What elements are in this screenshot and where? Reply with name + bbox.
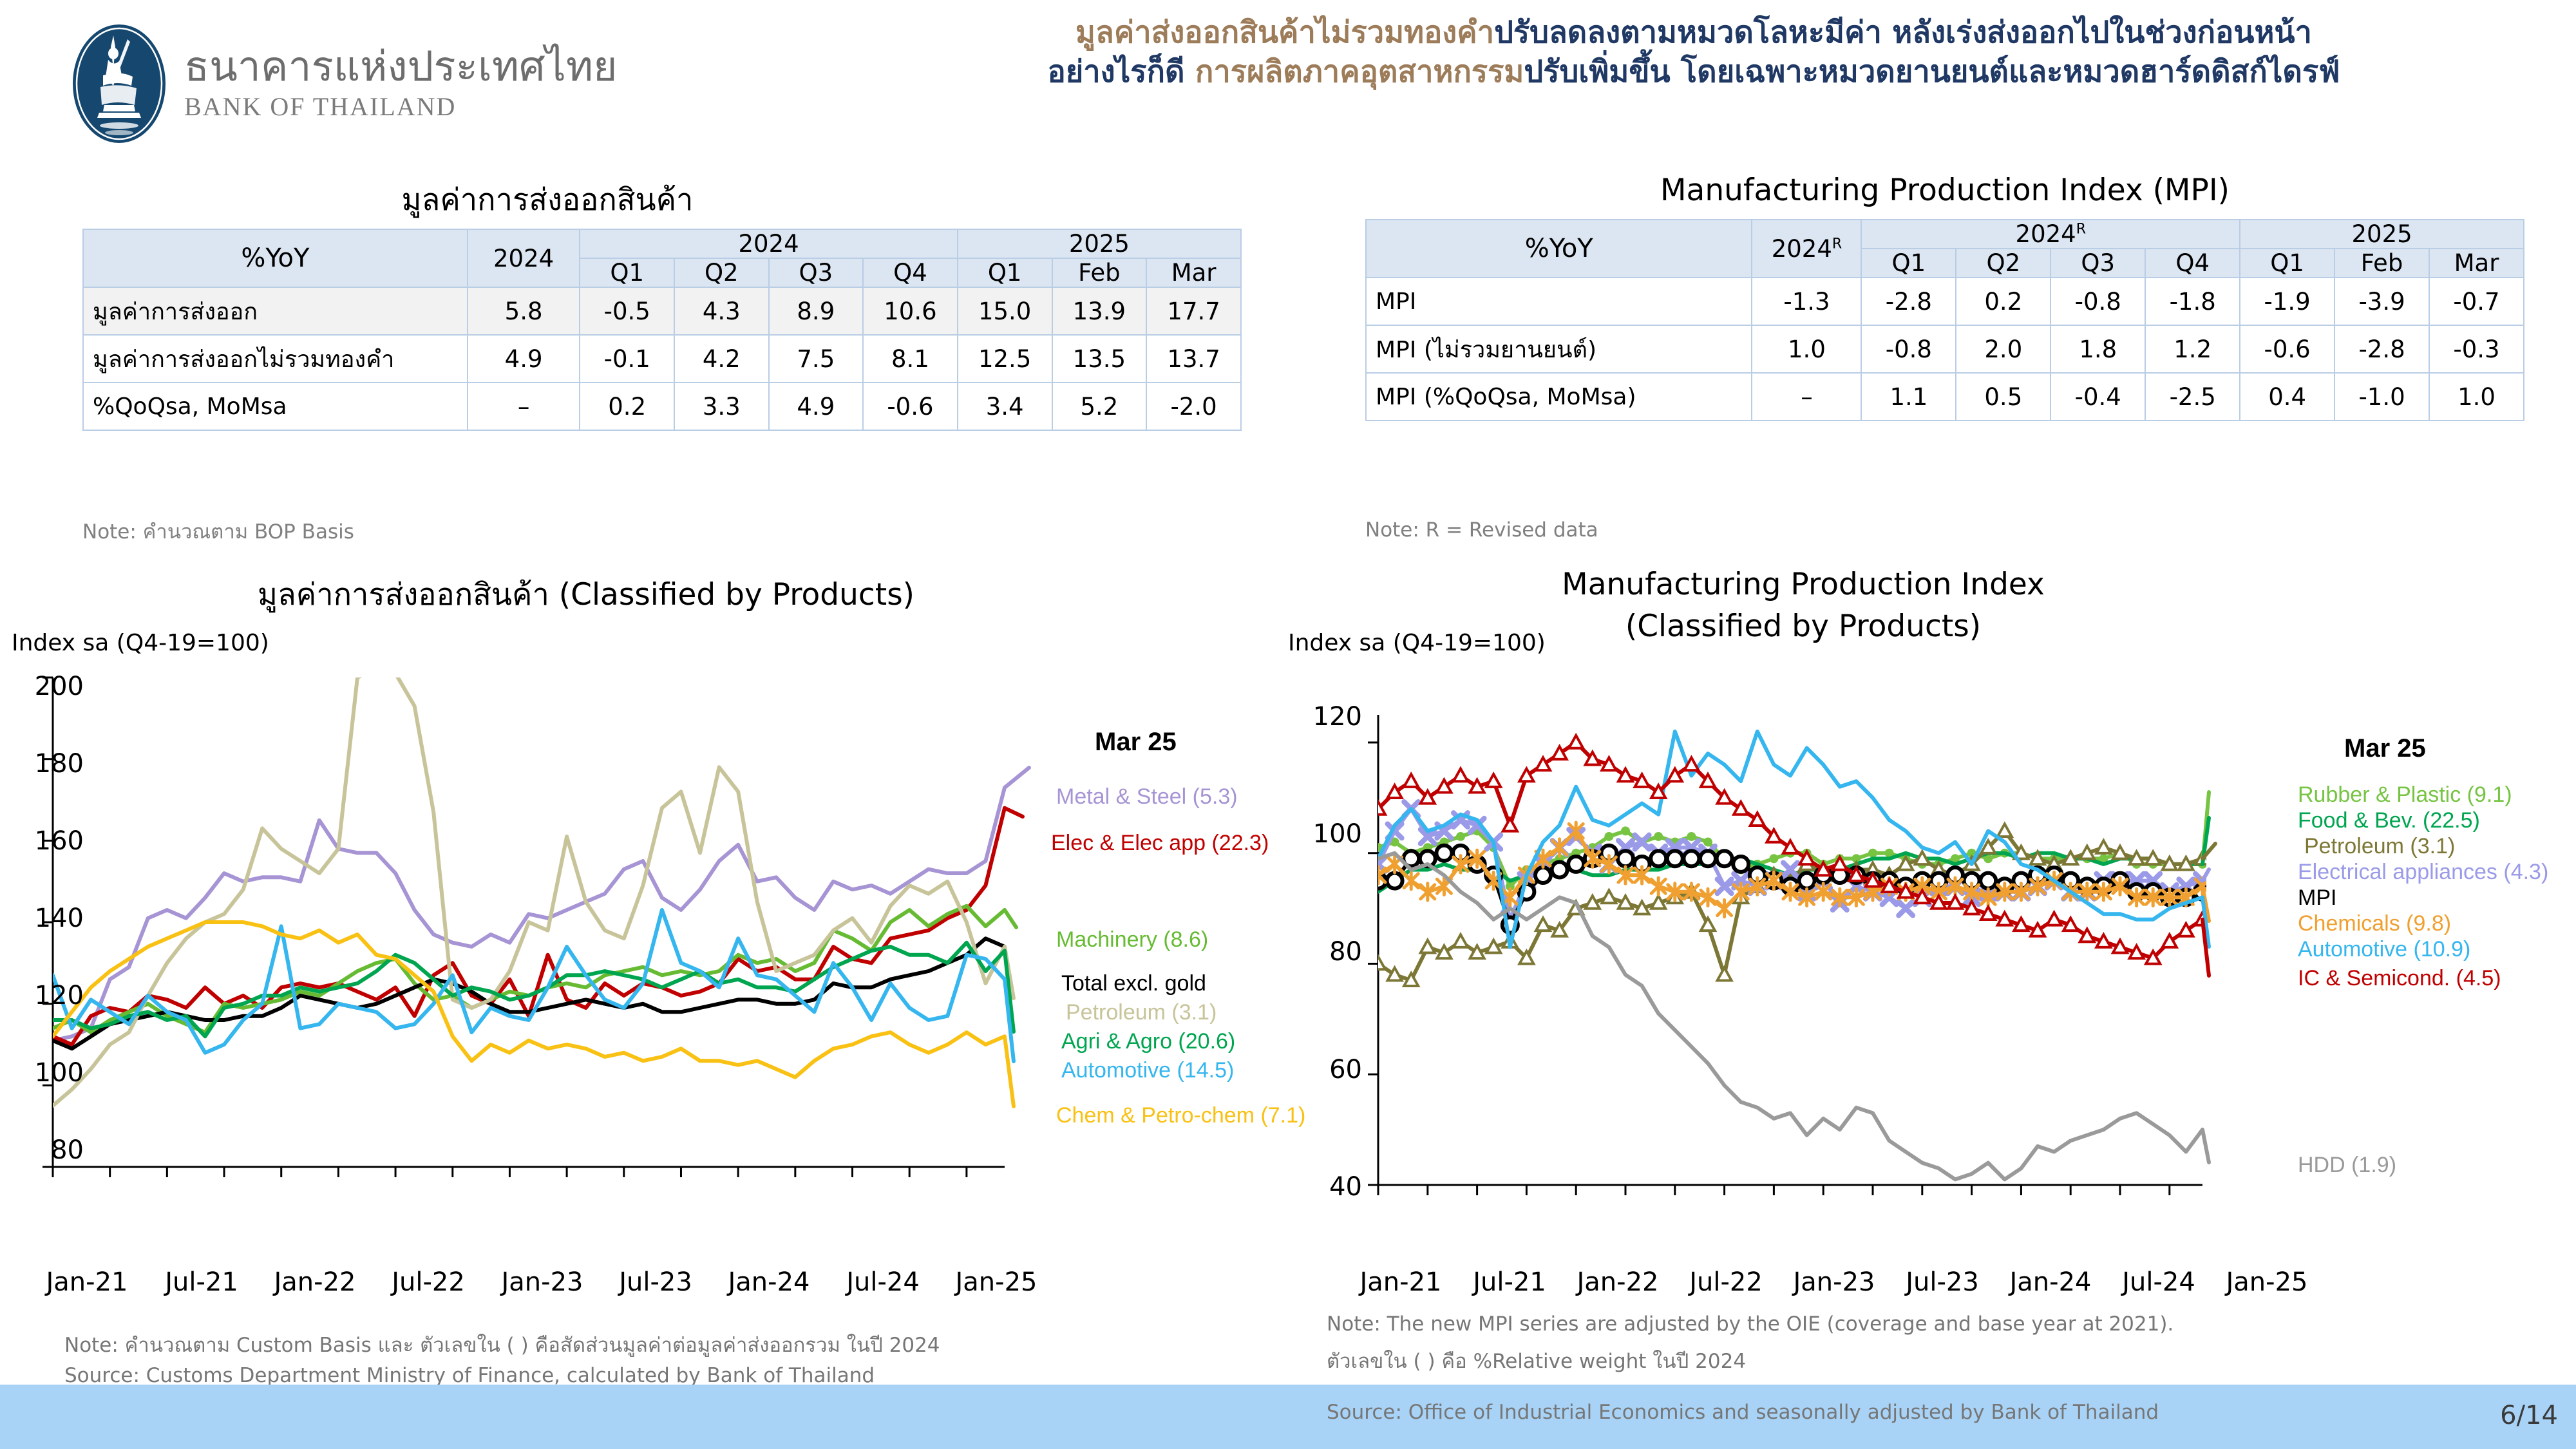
th-sub-5: Feb [2334, 249, 2429, 278]
left-chart-axis-unit: Index sa (Q4-19=100) [12, 630, 269, 656]
right-table-note: Note: R = Revised data [1365, 518, 1598, 542]
legend-item-machinery[interactable]: Machinery (8.6) [1056, 927, 1208, 952]
cell: 13.9 [1052, 287, 1147, 335]
page-title: มูลค่าส่งออกสินค้าไม่รวมทองคำปรับลดลงตาม… [850, 13, 2537, 91]
xtick: Jan-24 [1993, 1267, 2108, 1297]
legend-item-mpi[interactable]: MPI [2298, 885, 2336, 911]
legend-item-rubber-plastic[interactable]: Rubber & Plastic (9.1) [2298, 782, 2512, 808]
th-sub-2: Q3 [769, 258, 864, 287]
th-year: 2024 [468, 229, 580, 287]
ytick: 80 [6, 1135, 84, 1165]
exports-chart [0, 670, 1082, 1262]
th-yoy: %YoY [83, 229, 468, 287]
cell: 4.2 [674, 335, 769, 383]
ytick: 40 [1285, 1172, 1362, 1202]
th-sub-4: Q1 [958, 258, 1052, 287]
cell: 4.9 [468, 335, 580, 383]
ytick: 140 [6, 904, 84, 933]
cell: 13.5 [1052, 335, 1147, 383]
th-group-2024: 2024R [1861, 220, 2240, 249]
cell: 4.9 [769, 383, 864, 430]
cell: 12.5 [958, 335, 1052, 383]
th-group-2025: 2025 [958, 229, 1241, 258]
left-footer-source: Source: Customs Department Ministry of F… [64, 1364, 875, 1387]
cell: 3.3 [674, 383, 769, 430]
ytick: 120 [6, 981, 84, 1010]
xtick: Jul-24 [825, 1267, 941, 1297]
th-yoy: %YoY [1366, 220, 1752, 278]
left-footer-note: Note: คำนวณตาม Custom Basis และ ตัวเลขใน… [64, 1329, 940, 1361]
mpi-chart [1288, 696, 2306, 1262]
th-sub-3: Q4 [2145, 249, 2240, 278]
th-sub-0: Q1 [1861, 249, 1956, 278]
th-sub-2: Q3 [2050, 249, 2145, 278]
left-chart-title: มูลค่าการส่งออกสินค้า (Classified by Pro… [103, 570, 1069, 618]
cell: -2.5 [2145, 373, 2240, 421]
cell: -0.5 [580, 287, 674, 335]
right-table-title: Manufacturing Production Index (MPI) [1365, 173, 2524, 208]
xtick: Jan-21 [1343, 1267, 1459, 1297]
revised-sup: R [2076, 222, 2086, 238]
cell: -0.6 [863, 383, 958, 430]
legend-item-total-excl-gold[interactable]: Total excl. gold [1061, 971, 1206, 996]
th-sub-0: Q1 [580, 258, 674, 287]
xtick: Jul-24 [2101, 1267, 2217, 1297]
cell: 17.7 [1146, 287, 1241, 335]
left-table-title: มูลค่าการส่งออกสินค้า [258, 175, 837, 223]
ytick: 160 [6, 826, 84, 856]
footer-bar [0, 1385, 2576, 1449]
th-sub-1: Q2 [674, 258, 769, 287]
th-sub-4: Q1 [2240, 249, 2334, 278]
cell: -0.8 [2050, 278, 2145, 325]
th-year-text: 2024 [1772, 235, 1832, 263]
cell: 3.4 [958, 383, 1052, 430]
cell: 10.6 [863, 287, 958, 335]
table-row: มูลค่าการส่งออกไม่รวมทองคำ 4.9 -0.1 4.2 … [83, 335, 1241, 383]
cell: 13.7 [1146, 335, 1241, 383]
th-group-2024: 2024 [580, 229, 957, 258]
legend-item-hdd[interactable]: HDD (1.9) [2298, 1153, 2396, 1178]
row-label: มูลค่าการส่งออกไม่รวมทองคำ [83, 335, 468, 383]
revised-sup: R [1832, 236, 1842, 252]
xtick: Jan-23 [1776, 1267, 1892, 1297]
legend-item-chem-petrochem[interactable]: Chem & Petro-chem (7.1) [1056, 1103, 1305, 1128]
xtick: Jul-21 [144, 1267, 260, 1297]
cell: 1.8 [2050, 325, 2145, 373]
bot-seal-icon [71, 23, 167, 145]
ytick: 180 [6, 749, 84, 779]
legend-item-automotive[interactable]: Automotive (10.9) [2298, 937, 2470, 962]
th-year: 2024R [1752, 220, 1861, 278]
cell: 7.5 [769, 335, 864, 383]
xtick: Jan-21 [29, 1267, 145, 1297]
bot-logo: ธนาคารแห่งประเทศไทย BANK OF THAILAND [71, 19, 715, 148]
left-legend-title: Mar 25 [1095, 728, 1177, 757]
left-table-note: Note: คำนวณตาม BOP Basis [82, 515, 354, 547]
cell: -0.3 [2429, 325, 2524, 373]
row-label: MPI (%QoQsa, MoMsa) [1366, 373, 1752, 421]
title-seg-3: อย่างไรก็ดี [1048, 54, 1195, 90]
table-row: %QoQsa, MoMsa – 0.2 3.3 4.9 -0.6 3.4 5.2… [83, 383, 1241, 430]
cell: 2.0 [1956, 325, 2050, 373]
ytick: 120 [1285, 702, 1362, 732]
legend-item-food-bev[interactable]: Food & Bev. (22.5) [2298, 808, 2480, 833]
xtick: Jan-25 [2209, 1267, 2325, 1297]
exports-chart-svg [0, 670, 1082, 1262]
cell: -0.4 [2050, 373, 2145, 421]
legend-item-chemicals[interactable]: Chemicals (9.8) [2298, 911, 2451, 936]
cell: 1.0 [2429, 373, 2524, 421]
xtick: Jul-23 [598, 1267, 714, 1297]
xtick: Jan-22 [1560, 1267, 1676, 1297]
row-label: มูลค่าการส่งออก [83, 287, 468, 335]
xtick: Jul-22 [370, 1267, 486, 1297]
mpi-chart-svg [1288, 696, 2306, 1262]
right-legend-title: Mar 25 [2344, 734, 2426, 763]
table-row: MPI -1.3 -2.8 0.2 -0.8 -1.8 -1.9 -3.9 -0… [1366, 278, 2524, 325]
page-number: 6/14 [2500, 1401, 2558, 1430]
cell: 5.8 [468, 287, 580, 335]
xtick: Jan-23 [484, 1267, 600, 1297]
cell: 15.0 [958, 287, 1052, 335]
cell: 8.9 [769, 287, 864, 335]
cell: -2.8 [2334, 325, 2429, 373]
legend-item-metal-steel[interactable]: Metal & Steel (5.3) [1056, 784, 1238, 810]
right-footer-note2: ตัวเลขใน ( ) คือ %Relative weight ในปี 2… [1327, 1345, 1746, 1377]
cell: 0.5 [1956, 373, 2050, 421]
mpi-table: %YoY 2024R 2024R 2025 Q1 Q2 Q3 Q4 Q1 Feb… [1365, 219, 2524, 421]
cell: 0.2 [1956, 278, 2050, 325]
th-group-2025: 2025 [2240, 220, 2524, 249]
cell: -2.0 [1146, 383, 1241, 430]
right-chart-axis-unit: Index sa (Q4-19=100) [1288, 630, 1546, 656]
legend-item-petroleum[interactable]: Petroleum (3.1) [1066, 1000, 1217, 1025]
right-chart-title-line1: Manufacturing Production Index [1352, 567, 2254, 602]
cell: 0.4 [2240, 373, 2334, 421]
cell: 1.2 [2145, 325, 2240, 373]
cell: -0.7 [2429, 278, 2524, 325]
title-seg-1: มูลค่าส่งออกสินค้าไม่รวมทองคำ [1075, 15, 1494, 50]
xtick: Jul-22 [1668, 1267, 1784, 1297]
row-label: MPI [1366, 278, 1752, 325]
legend-item-agri-agro[interactable]: Agri & Agro (20.6) [1061, 1029, 1235, 1054]
ytick: 100 [6, 1058, 84, 1088]
th-sub-3: Q4 [863, 258, 958, 287]
cell: -1.8 [2145, 278, 2240, 325]
title-seg-4: การผลิตภาคอุตสาหกรรม [1195, 54, 1524, 90]
table-row: MPI (%QoQsa, MoMsa) – 1.1 0.5 -0.4 -2.5 … [1366, 373, 2524, 421]
cell: -3.9 [2334, 278, 2429, 325]
cell: – [468, 383, 580, 430]
cell: -2.8 [1861, 278, 1956, 325]
cell: -1.0 [2334, 373, 2429, 421]
legend-item-ic-semicond[interactable]: IC & Semicond. (4.5) [2298, 966, 2501, 991]
exports-table: %YoY 2024 2024 2025 Q1 Q2 Q3 Q4 Q1 Feb M… [82, 229, 1242, 431]
ytick: 80 [1285, 937, 1362, 967]
ytick: 100 [1285, 819, 1362, 849]
right-footer-source: Source: Office of Industrial Economics a… [1327, 1401, 2159, 1424]
cell: -1.3 [1752, 278, 1861, 325]
th-group-2024-text: 2024 [2016, 220, 2076, 248]
ytick: 200 [6, 672, 84, 701]
xtick: Jan-25 [938, 1267, 1054, 1297]
table-row: MPI (ไม่รวมยานยนต์) 1.0 -0.8 2.0 1.8 1.2… [1366, 325, 2524, 373]
cell: 8.1 [863, 335, 958, 383]
xtick: Jan-22 [257, 1267, 373, 1297]
th-sub-1: Q2 [1956, 249, 2050, 278]
cell: 5.2 [1052, 383, 1147, 430]
title-seg-2: ปรับลดลงตามหมวดโลหะมีค่า หลังเร่งส่งออกไ… [1494, 15, 2312, 50]
logo-thai-name: ธนาคารแห่งประเทศไทย [184, 46, 618, 89]
row-label: MPI (ไม่รวมยานยนต์) [1366, 325, 1752, 373]
cell: -0.6 [2240, 325, 2334, 373]
ytick: 60 [1285, 1055, 1362, 1084]
xtick: Jul-21 [1452, 1267, 1567, 1297]
cell: 0.2 [580, 383, 674, 430]
cell: 1.1 [1861, 373, 1956, 421]
legend-item-electrical-appl[interactable]: Electrical appliances (4.3) [2298, 860, 2548, 885]
right-footer-note1: Note: The new MPI series are adjusted by… [1327, 1312, 2173, 1336]
title-seg-5: ปรับเพิ่มขึ้น โดยเฉพาะหมวดยานยนต์และหมวด… [1524, 54, 2340, 90]
legend-item-petroleum[interactable]: Petroleum (3.1) [2304, 834, 2455, 859]
th-sub-5: Feb [1052, 258, 1147, 287]
table-row: มูลค่าการส่งออก 5.8 -0.5 4.3 8.9 10.6 15… [83, 287, 1241, 335]
cell: 4.3 [674, 287, 769, 335]
th-sub-6: Mar [2429, 249, 2524, 278]
cell: -1.9 [2240, 278, 2334, 325]
row-label: %QoQsa, MoMsa [83, 383, 468, 430]
cell: -0.1 [580, 335, 674, 383]
th-sub-6: Mar [1146, 258, 1241, 287]
cell: – [1752, 373, 1861, 421]
cell: 1.0 [1752, 325, 1861, 373]
cell: -0.8 [1861, 325, 1956, 373]
legend-item-elec[interactable]: Elec & Elec app (22.3) [1051, 831, 1269, 856]
xtick: Jul-23 [1884, 1267, 2000, 1297]
logo-english-name: BANK OF THAILAND [184, 91, 618, 122]
xtick: Jan-24 [711, 1267, 827, 1297]
legend-item-automotive[interactable]: Automotive (14.5) [1061, 1058, 1234, 1083]
